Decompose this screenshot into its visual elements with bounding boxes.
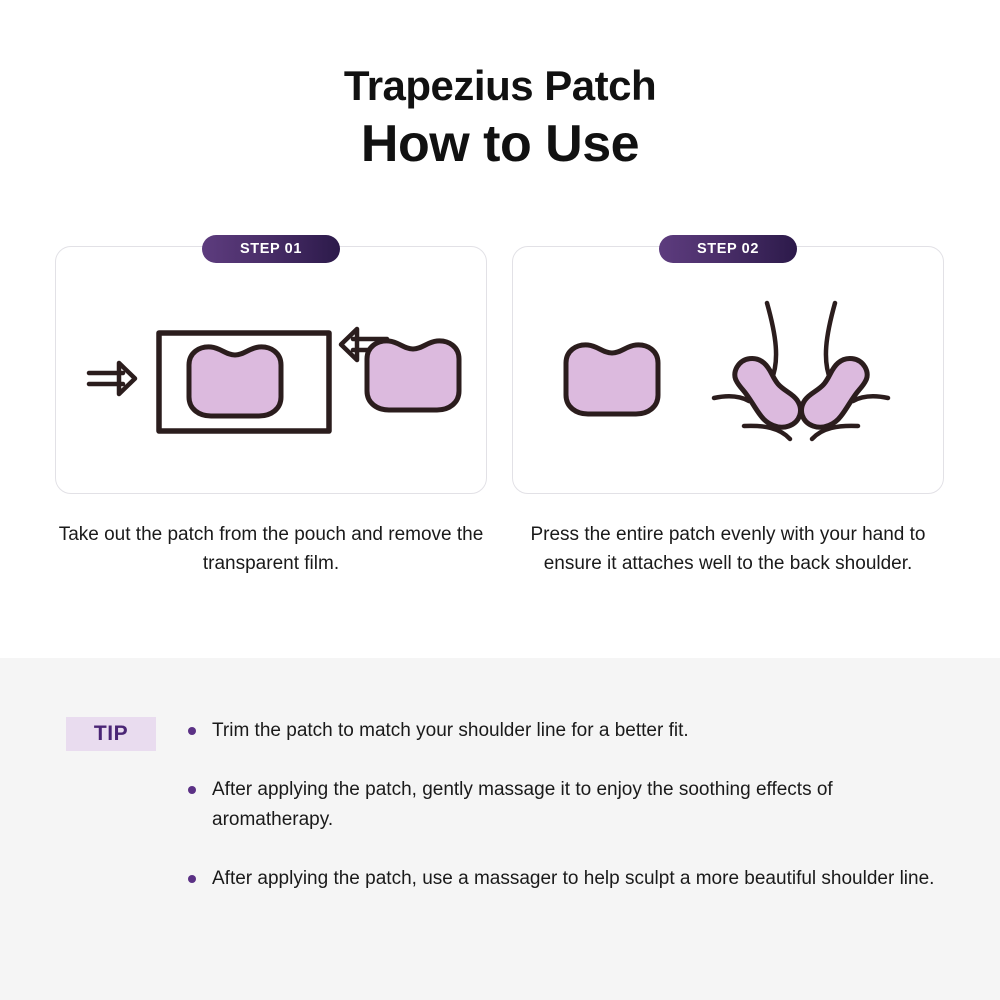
step-badge-2: STEP 02 bbox=[659, 235, 797, 263]
tip-list: Trim the patch to match your shoulder li… bbox=[186, 716, 950, 894]
tip-item-text: Trim the patch to match your shoulder li… bbox=[212, 720, 689, 741]
how-to-use-page: Trapezius Patch How to Use STEP 01 bbox=[0, 0, 1000, 1000]
step-column-2: STEP 02 bbox=[512, 246, 944, 579]
tip-badge: TIP bbox=[66, 717, 156, 751]
tip-inner: TIP Trim the patch to match your shoulde… bbox=[66, 716, 950, 894]
step-1-illustration bbox=[56, 247, 486, 493]
tip-section: TIP Trim the patch to match your shoulde… bbox=[0, 658, 1000, 1000]
arrow-right-icon bbox=[89, 363, 135, 394]
bullet-icon bbox=[188, 875, 196, 883]
step-card-1: STEP 01 bbox=[55, 246, 487, 494]
tip-list-item: After applying the patch, use a massager… bbox=[186, 864, 950, 894]
step-caption-2: Press the entire patch evenly with your … bbox=[512, 520, 944, 579]
applied-patch-right bbox=[802, 358, 868, 427]
page-title-product: Trapezius Patch bbox=[0, 62, 1000, 110]
step-2-illustration bbox=[513, 247, 943, 493]
steps-container: STEP 01 bbox=[55, 246, 945, 579]
tip-item-text: After applying the patch, use a massager… bbox=[212, 868, 934, 889]
page-header: Trapezius Patch How to Use bbox=[0, 62, 1000, 176]
step-badge-1: STEP 01 bbox=[202, 235, 340, 263]
step-caption-1: Take out the patch from the pouch and re… bbox=[55, 520, 487, 579]
tip-item-text: After applying the patch, gently massage… bbox=[212, 779, 833, 830]
bullet-icon bbox=[188, 727, 196, 735]
tip-list-item: After applying the patch, gently massage… bbox=[186, 775, 950, 835]
step-column-1: STEP 01 bbox=[55, 246, 487, 579]
page-title-main: How to Use bbox=[0, 114, 1000, 175]
step-card-2: STEP 02 bbox=[512, 246, 944, 494]
bullet-icon bbox=[188, 786, 196, 794]
applied-patch-left bbox=[735, 358, 801, 427]
tip-list-item: Trim the patch to match your shoulder li… bbox=[186, 716, 950, 746]
